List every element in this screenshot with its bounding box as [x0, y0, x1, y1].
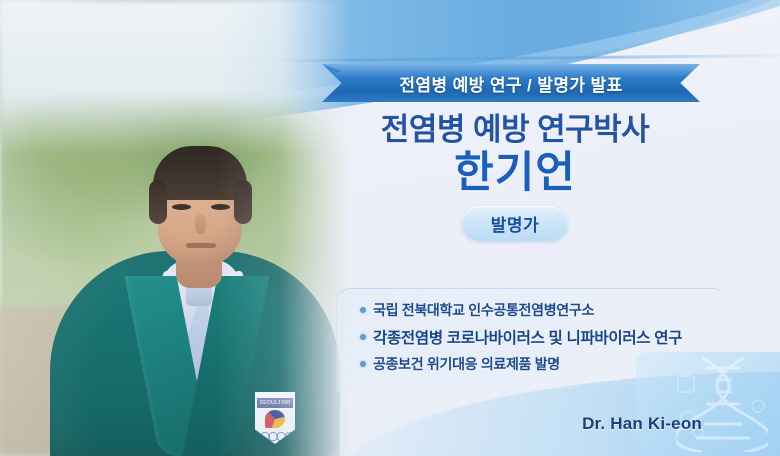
- bullet-dot-icon: [360, 361, 366, 367]
- eye-right: [211, 204, 230, 210]
- samtaegeuk-swirl-icon: [265, 410, 285, 428]
- profile-card-stage: SEOUL1988 ◯◯◯◯◯ 전염병 예방 연구 / 발명가 발표 전염병 예…: [0, 0, 780, 456]
- list-item-label: 각종전염병 코로나바이러스 및 니파바이러스 연구: [373, 326, 682, 348]
- bullet-dot-icon: [360, 307, 366, 313]
- portrait-photo: SEOUL1988 ◯◯◯◯◯: [0, 0, 350, 456]
- status-badge: 발명가: [462, 206, 568, 241]
- mouth: [186, 243, 216, 248]
- page-title: 전염병 예방 연구박사: [330, 112, 700, 148]
- ribbon-label: 전염병 예방 연구 / 발명가 발표: [322, 64, 700, 102]
- hair-side-left: [149, 180, 167, 224]
- list-item: 국립 전북대학교 인수공통전염병연구소: [360, 300, 740, 320]
- portrait-subject: SEOUL1988 ◯◯◯◯◯: [50, 56, 340, 456]
- nose: [195, 214, 206, 234]
- dna-helix-icon: [676, 356, 768, 452]
- list-item-label: 공종보건 위기대응 의료제품 발명: [373, 354, 560, 374]
- hair-side-right: [234, 180, 252, 224]
- olympic-rings-icon: ◯◯◯◯◯: [260, 431, 290, 441]
- hair: [153, 146, 247, 200]
- person-name: 한기언: [330, 150, 700, 197]
- bullet-dot-icon: [360, 334, 366, 340]
- signature-text: Dr. Han Ki-eon: [582, 414, 702, 434]
- eye-left: [172, 204, 191, 210]
- list-item-label: 국립 전북대학교 인수공통전염병연구소: [373, 300, 594, 320]
- emblem-top-label: SEOUL1988: [257, 398, 293, 408]
- headline-block: 전염병 예방 연구박사 한기언 발명가: [330, 112, 700, 241]
- list-item: 각종전염병 코로나바이러스 및 니파바이러스 연구: [360, 326, 740, 348]
